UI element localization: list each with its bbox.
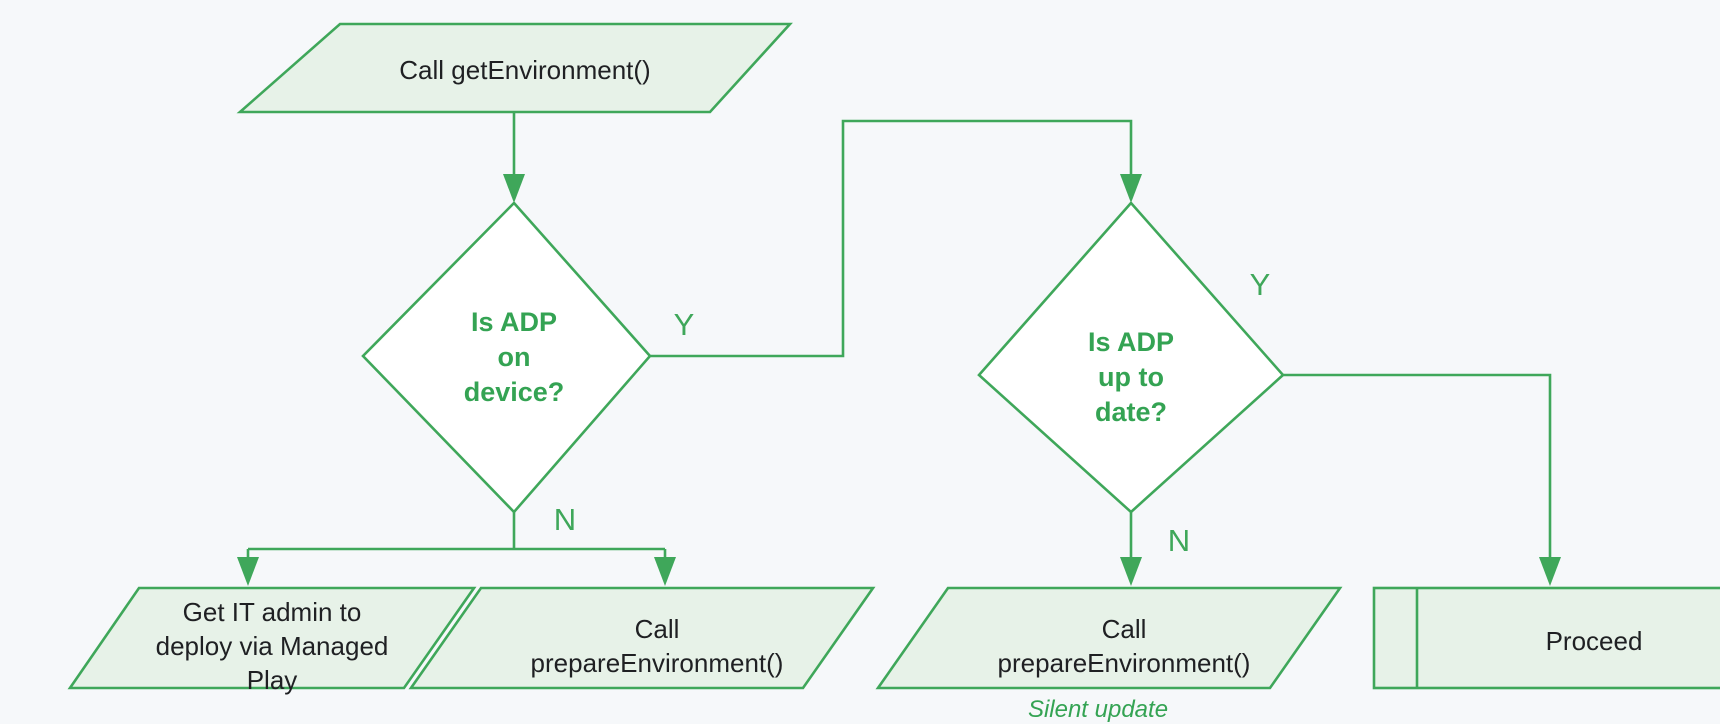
node-get-it-admin-shape[interactable] bbox=[70, 588, 474, 688]
node-decision-adp-up-to-date-shape[interactable] bbox=[979, 203, 1283, 512]
node-decision-adp-on-device-shape[interactable] bbox=[363, 203, 650, 512]
node-proceed-shape[interactable] bbox=[1374, 588, 1720, 688]
flowchart-graphics bbox=[0, 0, 1720, 724]
node-prepare-env-right-shape[interactable] bbox=[878, 588, 1340, 688]
connector-decision2-yes-to-proceed bbox=[1283, 375, 1561, 586]
node-start-shape[interactable] bbox=[240, 24, 790, 112]
connector-start-to-decision1 bbox=[503, 111, 525, 203]
connector-decision1-no-split bbox=[237, 512, 676, 586]
node-prepare-env-left-shape[interactable] bbox=[411, 588, 873, 688]
flowchart-canvas: Call getEnvironment() Is ADP on device? … bbox=[0, 0, 1720, 724]
connector-decision2-no bbox=[1120, 512, 1142, 586]
